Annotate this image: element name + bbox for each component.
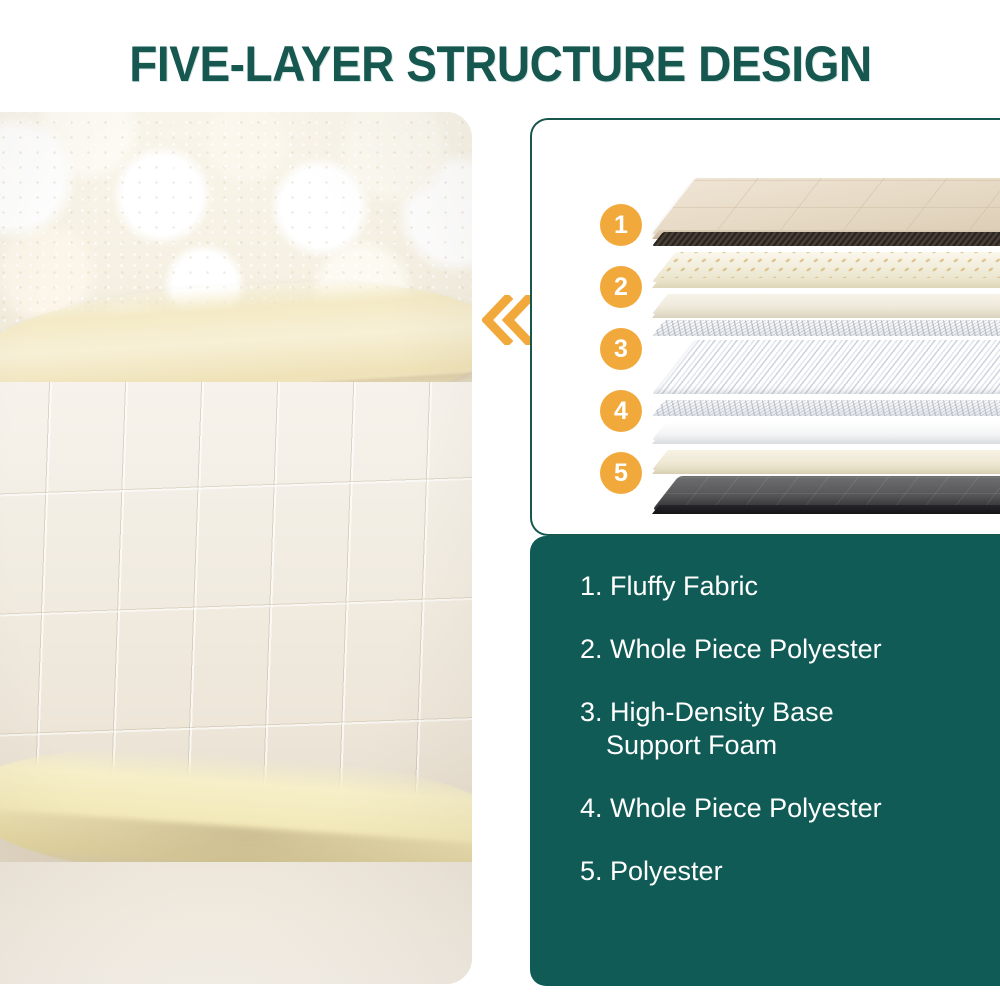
layer-3-mesh-face [652, 320, 1000, 336]
layer-2-edge [652, 278, 1000, 288]
layer-2-whole-piece-polyester [652, 252, 1000, 282]
layer-1-honeycomb-face [652, 232, 1000, 246]
layer-badge-3: 3 [600, 328, 642, 370]
layer-4-whole-piece-polyester [652, 422, 1000, 440]
layer-3-mesh-top [652, 320, 1000, 336]
layer-diagram-card: 1 2 3 4 5 [530, 118, 1000, 536]
list-item: 5. Polyester [580, 855, 974, 888]
exploded-mattress-illustration [652, 160, 1000, 520]
list-item: 2. Whole Piece Polyester [580, 633, 974, 666]
list-item: 3. High-Density BaseSupport Foam [580, 696, 974, 762]
layer-number-badges: 1 2 3 4 5 [600, 204, 646, 494]
layer-3-pocket-coil-unit [652, 340, 1000, 394]
layer-3-coil-face [652, 340, 1000, 394]
list-item: 1. Fluffy Fabric [580, 570, 974, 603]
double-chevron-left-icon [482, 295, 530, 345]
layer-1-honeycomb-core [652, 232, 1000, 246]
layer-badge-2: 2 [600, 266, 642, 308]
layer-badge-4: 4 [600, 390, 642, 432]
layer-5-edge [652, 466, 1000, 474]
layer-5-polyester [652, 450, 1000, 470]
layer-1-fluffy-fabric [652, 178, 1000, 234]
list-item: 4. Whole Piece Polyester [580, 792, 974, 825]
layer-1-top-face [652, 178, 1000, 234]
photo-vignette [0, 112, 472, 984]
layer-badge-1: 1 [600, 204, 642, 246]
layer-legend-panel: 1. Fluffy Fabric 2. Whole Piece Polyeste… [530, 536, 1000, 986]
layer-5-base-cover [652, 476, 1000, 510]
layer-5-base-edge [652, 505, 1000, 514]
title-bar: FIVE-LAYER STRUCTURE DESIGN [0, 28, 1000, 100]
layer-4-edge [652, 436, 1000, 444]
layer-3-foam-edge [652, 310, 1000, 318]
product-photo-panel [0, 112, 472, 984]
layer-4-mesh-sheet [652, 400, 1000, 416]
layer-3-foam-sheet [652, 294, 1000, 314]
infographic-page: FIVE-LAYER STRUCTURE DESIGN 1 2 3 4 5 [0, 0, 1000, 1000]
layer-badge-5: 5 [600, 452, 642, 494]
layer-4-mesh-face [652, 400, 1000, 416]
page-title: FIVE-LAYER STRUCTURE DESIGN [129, 35, 871, 93]
layer-legend-list: 1. Fluffy Fabric 2. Whole Piece Polyeste… [580, 570, 974, 888]
